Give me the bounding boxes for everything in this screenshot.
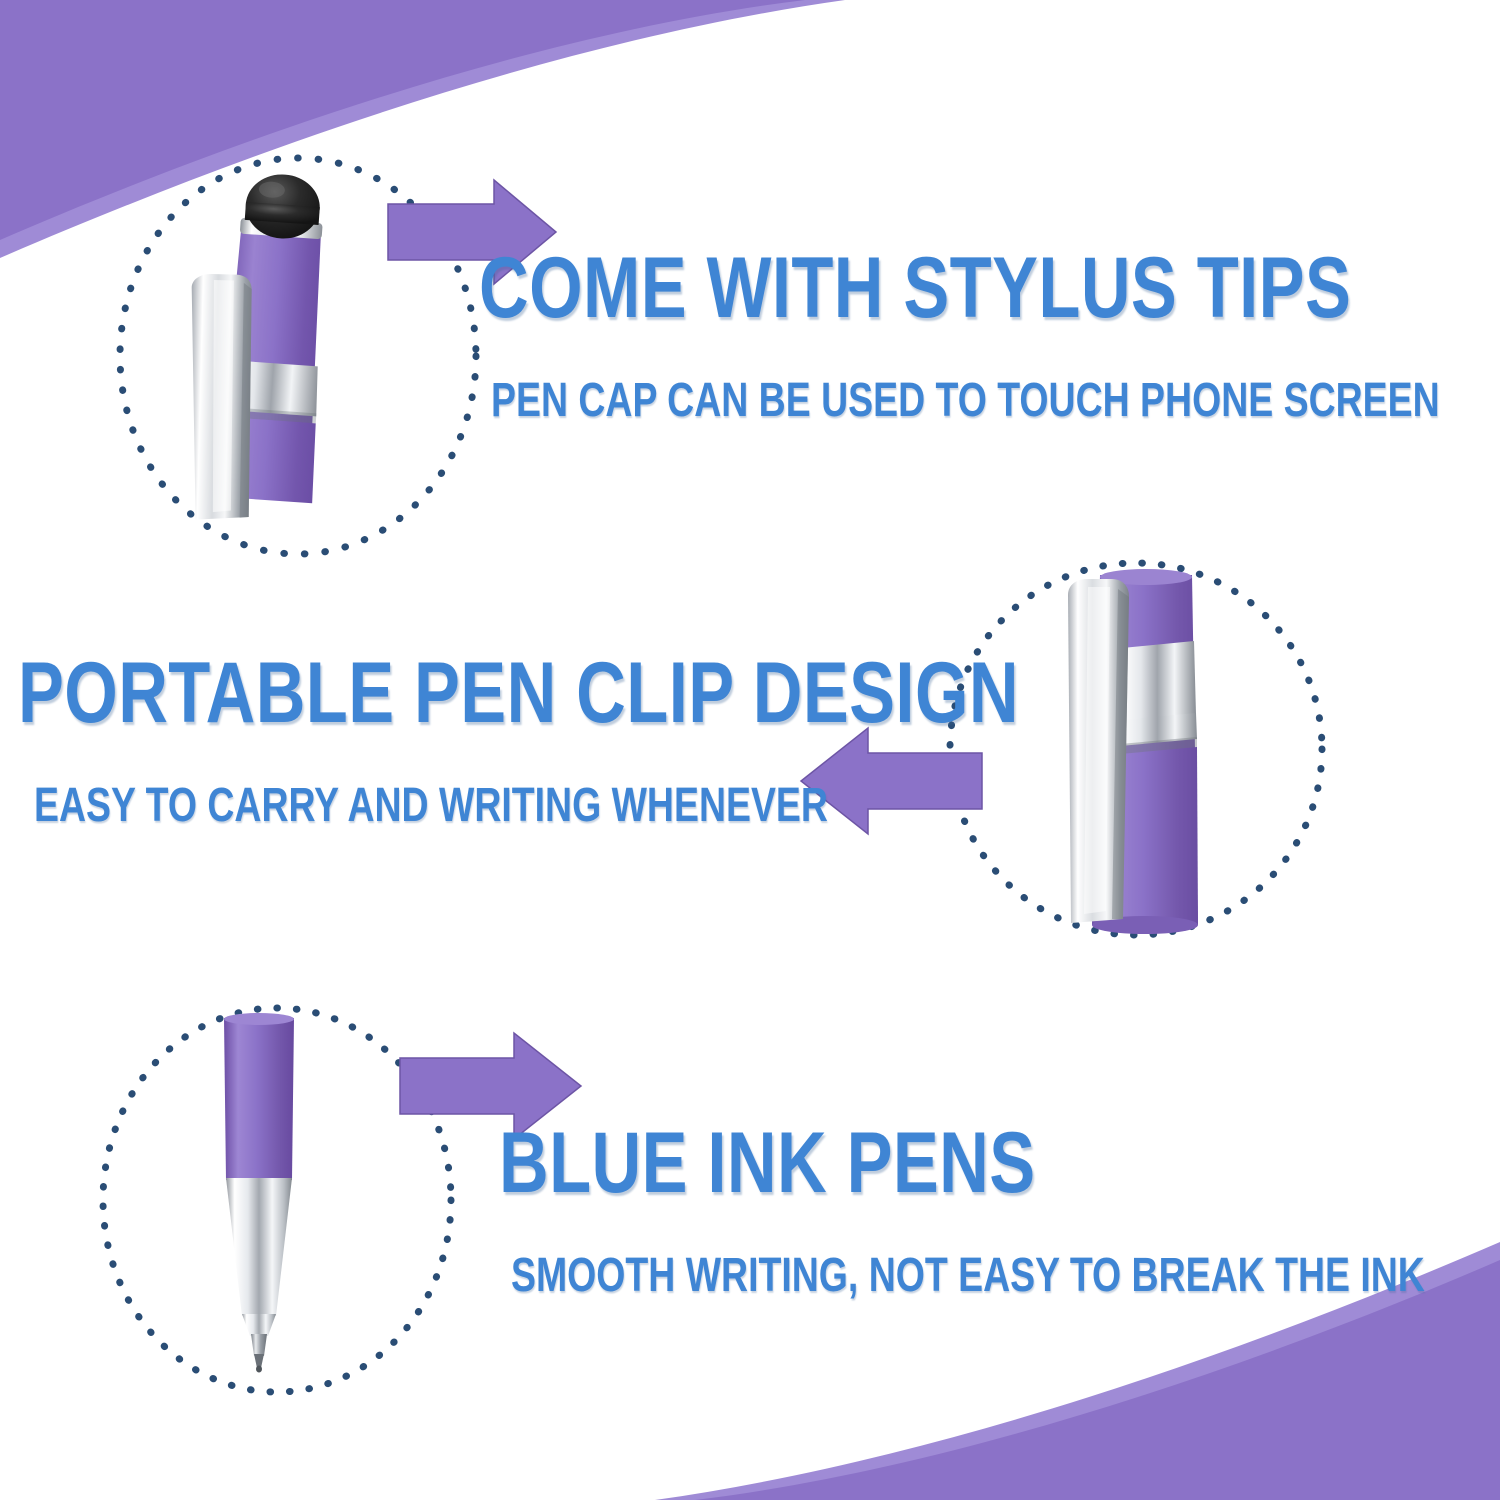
feature-pen-clip: PORTABLE PEN CLIP DESIGN EASY TO CARRY A… — [0, 545, 1500, 955]
feature-pen-clip-subline: EASY TO CARRY AND WRITING WHENEVER — [34, 782, 997, 830]
infographic-page: COME WITH STYLUS TIPS PEN CAP CAN BE USE… — [0, 0, 1500, 1500]
feature-pen-clip-headline: PORTABLE PEN CLIP DESIGN — [18, 650, 1019, 736]
feature-blue-ink: BLUE INK PENS SMOOTH WRITING, NOT EASY T… — [0, 990, 1500, 1410]
feature-blue-ink-headline: BLUE INK PENS — [499, 1120, 1446, 1206]
feature-stylus-tips: COME WITH STYLUS TIPS PEN CAP CAN BE USE… — [0, 140, 1500, 570]
feature-blue-ink-subline: SMOOTH WRITING, NOT EASY TO BREAK THE IN… — [511, 1252, 1425, 1300]
feature-stylus-tips-headline: COME WITH STYLUS TIPS — [479, 245, 1462, 331]
feature-pen-clip-text: PORTABLE PEN CLIP DESIGN EASY TO CARRY A… — [18, 650, 1269, 830]
feature-blue-ink-text: BLUE INK PENS SMOOTH WRITING, NOT EASY T… — [499, 1120, 1500, 1300]
feature-stylus-tips-subline: PEN CAP CAN BE USED TO TOUCH PHONE SCREE… — [491, 377, 1440, 425]
feature-stylus-tips-text: COME WITH STYLUS TIPS PEN CAP CAN BE USE… — [479, 245, 1500, 425]
